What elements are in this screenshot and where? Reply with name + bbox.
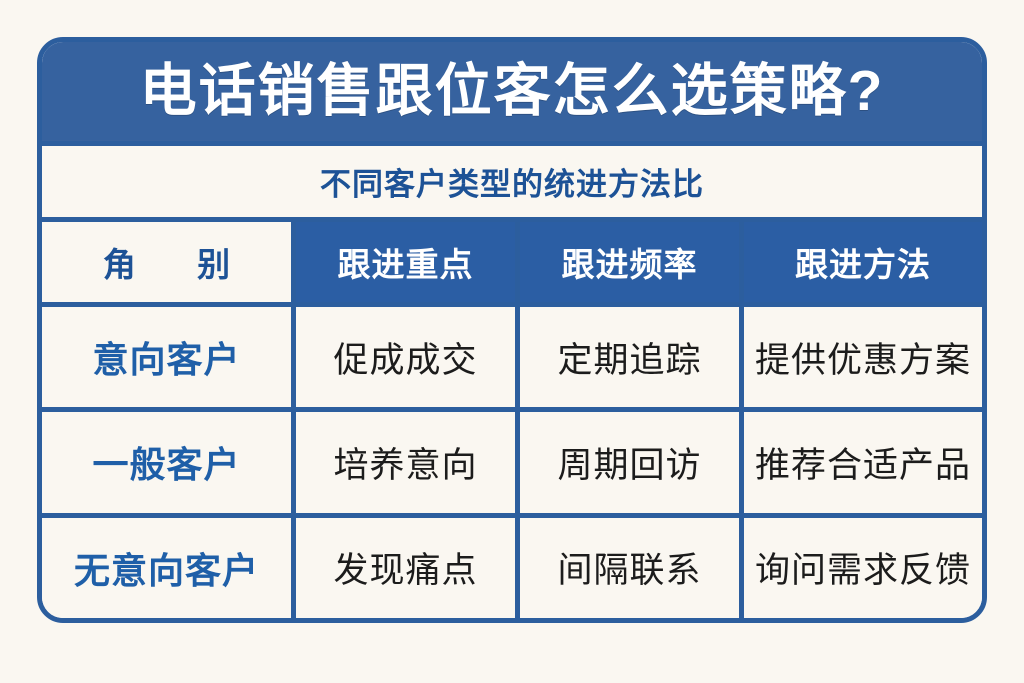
row-frequency-cell: 周期回访 xyxy=(515,412,739,512)
row-focus-value: 促成成交 xyxy=(333,332,477,383)
table-row: 意向客户 促成成交 定期追踪 提供优惠方案 xyxy=(42,302,982,407)
row-method-value: 询问需求反馈 xyxy=(755,542,971,593)
row-frequency-cell: 定期追踪 xyxy=(515,307,739,407)
row-method-cell: 询问需求反馈 xyxy=(739,518,982,618)
row-category-cell: 一般客户 xyxy=(42,412,291,512)
column-header-method: 跟进方法 xyxy=(739,222,982,302)
table-header-row: 角 别 跟进重点 跟进频率 跟进方法 xyxy=(42,222,982,302)
row-focus-cell: 培养意向 xyxy=(291,412,515,512)
row-category-label: 无意向客户 xyxy=(74,542,259,594)
row-focus-value: 培养意向 xyxy=(333,437,477,488)
row-focus-cell: 发现痛点 xyxy=(291,518,515,618)
column-header-focus-label: 跟进重点 xyxy=(338,238,474,286)
row-category-label: 一般客户 xyxy=(92,436,240,488)
column-header-category-label: 角 别 xyxy=(77,238,256,286)
strategy-card: 电话销售跟位客怎么选策略? 不同客户类型的统进方法比 角 别 跟进重点 跟进频率… xyxy=(37,37,987,623)
row-category-cell: 意向客户 xyxy=(42,307,291,407)
row-method-value: 推荐合适产品 xyxy=(755,437,971,488)
table-row: 一般客户 培养意向 周期回访 推荐合适产品 xyxy=(42,407,982,512)
column-header-frequency-label: 跟进频率 xyxy=(562,238,698,286)
subtitle-banner: 不同客户类型的统进方法比 xyxy=(42,146,982,222)
page-title: 电话销售跟位客怎么选策略? xyxy=(140,63,885,120)
title-banner: 电话销售跟位客怎么选策略? xyxy=(42,42,982,146)
column-header-focus: 跟进重点 xyxy=(291,222,515,302)
row-method-cell: 推荐合适产品 xyxy=(739,412,982,512)
row-frequency-value: 间隔联系 xyxy=(557,542,701,593)
row-focus-cell: 促成成交 xyxy=(291,307,515,407)
table-row: 无意向客户 发现痛点 间隔联系 询问需求反馈 xyxy=(42,513,982,618)
row-frequency-cell: 间隔联系 xyxy=(515,518,739,618)
row-category-cell: 无意向客户 xyxy=(42,518,291,618)
row-frequency-value: 定期追踪 xyxy=(557,332,701,383)
column-header-method-label: 跟进方法 xyxy=(795,238,931,286)
comparison-table: 角 别 跟进重点 跟进频率 跟进方法 意向客户 促成成交 定期追踪 提 xyxy=(42,222,982,618)
page-subtitle: 不同客户类型的统进方法比 xyxy=(320,159,704,204)
row-method-value: 提供优惠方案 xyxy=(755,332,971,383)
row-method-cell: 提供优惠方案 xyxy=(739,307,982,407)
column-header-frequency: 跟进频率 xyxy=(515,222,739,302)
row-category-label: 意向客户 xyxy=(92,331,240,383)
row-focus-value: 发现痛点 xyxy=(333,542,477,593)
row-frequency-value: 周期回访 xyxy=(557,437,701,488)
column-header-category: 角 别 xyxy=(42,222,291,302)
